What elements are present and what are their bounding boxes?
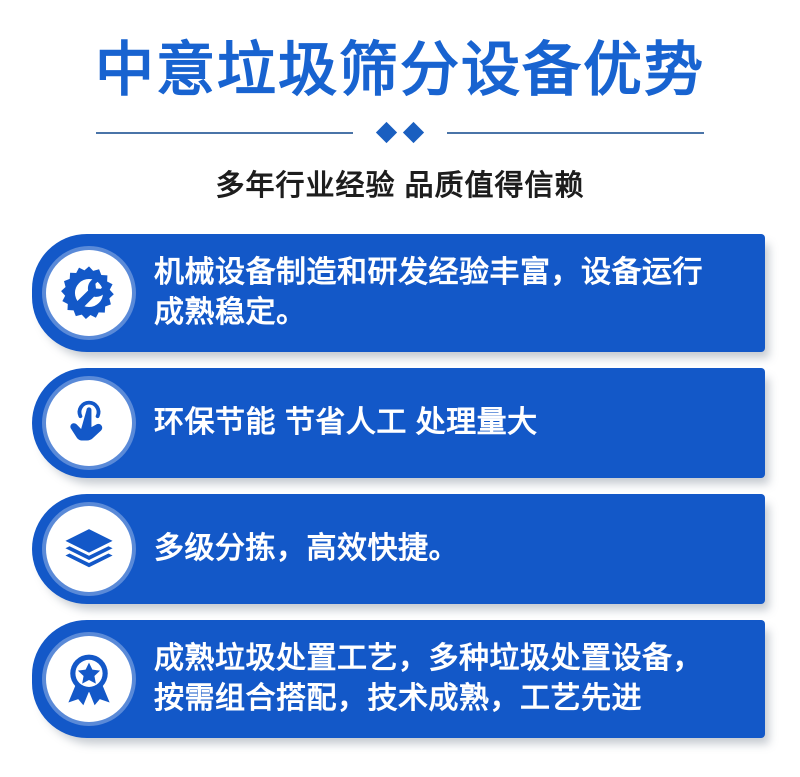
diamond-icon-1 — [376, 122, 397, 143]
layers-stack-icon — [46, 506, 132, 592]
feature-text-line: 机械设备制造和研发经验丰富，设备运行 — [154, 253, 703, 293]
feature-banner-2[interactable]: 环保节能 节省人工 处理量大 — [32, 368, 765, 478]
diamond-icon-2 — [403, 122, 424, 143]
feature-text-1: 机械设备制造和研发经验丰富，设备运行 成熟稳定。 — [154, 253, 715, 332]
feature-row: 环保节能 节省人工 处理量大 — [32, 368, 800, 478]
feature-text-2: 环保节能 节省人工 处理量大 — [154, 403, 550, 443]
feature-text-line: 多级分拣，高效快捷。 — [154, 529, 459, 569]
feature-text-line: 按需组合搭配，技术成熟，工艺先进 — [154, 679, 703, 719]
divider-line-right — [447, 132, 704, 134]
feature-banner-3[interactable]: 多级分拣，高效快捷。 — [32, 494, 765, 604]
page-header: 中意垃圾筛分设备优势 多年行业经验 品质值得信赖 — [0, 0, 800, 204]
hand-tap-icon — [46, 380, 132, 466]
feature-text-line: 环保节能 节省人工 处理量大 — [154, 403, 538, 443]
feature-text-4: 成熟垃圾处置工艺，多种垃圾处置设备， 按需组合搭配，技术成熟，工艺先进 — [154, 639, 715, 718]
feature-banner-4[interactable]: 成熟垃圾处置工艺，多种垃圾处置设备， 按需组合搭配，技术成熟，工艺先进 — [32, 620, 765, 738]
feature-banner-1[interactable]: 机械设备制造和研发经验丰富，设备运行 成熟稳定。 — [32, 234, 765, 352]
feature-list: 机械设备制造和研发经验丰富，设备运行 成熟稳定。 — [0, 234, 800, 738]
gear-wrench-icon — [46, 250, 132, 336]
feature-text-line: 成熟垃圾处置工艺，多种垃圾处置设备， — [154, 639, 703, 679]
promo-page: 中意垃圾筛分设备优势 多年行业经验 品质值得信赖 — [0, 0, 800, 777]
feature-text-3: 多级分拣，高效快捷。 — [154, 529, 471, 569]
feature-row: 成熟垃圾处置工艺，多种垃圾处置设备， 按需组合搭配，技术成熟，工艺先进 — [32, 620, 800, 738]
feature-row: 机械设备制造和研发经验丰富，设备运行 成熟稳定。 — [32, 234, 800, 352]
feature-text-line: 成熟稳定。 — [154, 293, 703, 333]
feature-row: 多级分拣，高效快捷。 — [32, 494, 800, 604]
page-subtitle: 多年行业经验 品质值得信赖 — [0, 162, 800, 204]
divider — [0, 122, 800, 144]
page-title: 中意垃圾筛分设备优势 — [0, 40, 800, 102]
divider-line-left — [96, 132, 353, 134]
award-medal-icon — [46, 636, 132, 722]
